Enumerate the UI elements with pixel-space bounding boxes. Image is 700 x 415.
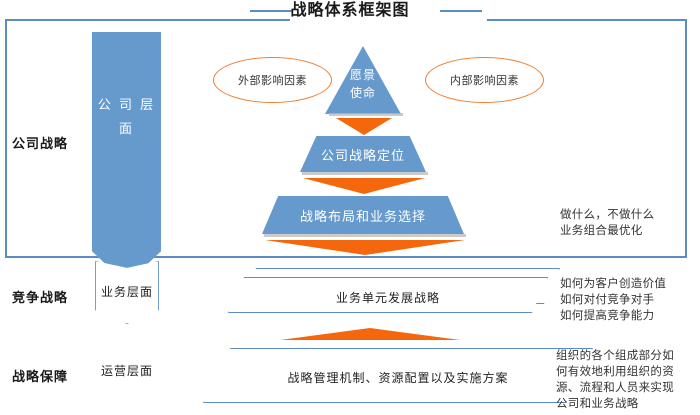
note-corporate: 做什么，不做什么 业务组合最优化 bbox=[560, 206, 695, 238]
level-corporate-label: 公 司 层 面 bbox=[92, 94, 161, 142]
vision-mission-label: 愿景 使命 bbox=[325, 66, 401, 102]
page-title: 战略体系框架图 bbox=[0, 0, 700, 20]
strategy-layout-label: 战略布局和业务选择 bbox=[300, 206, 426, 225]
frame-top-left-edge bbox=[5, 19, 290, 21]
external-factors-label: 外部影响因素 bbox=[238, 72, 307, 88]
strategy-layout-band: 战略布局和业务选择 bbox=[262, 196, 464, 234]
row-label-competitive: 竞争战略 bbox=[12, 287, 68, 306]
note-assurance: 组织的各个组成部分如 何有效地利用组织的资 源、流程和人员来实现 公司和业务战略 bbox=[556, 347, 698, 411]
frame-top-right-edge bbox=[487, 19, 687, 21]
note-competitive: 如何为客户创造价值 如何对付竞争对手 如何提高竞争能力 bbox=[560, 275, 695, 323]
internal-factors-label: 内部影响因素 bbox=[450, 72, 519, 88]
strategic-positioning-band: 公司战略定位 bbox=[300, 136, 426, 172]
strategic-positioning-label: 公司战略定位 bbox=[321, 145, 405, 164]
row-label-assurance: 战略保障 bbox=[12, 366, 68, 385]
operations-band-label: 战略管理机制、资源配置以及实施方案 bbox=[203, 369, 593, 386]
level-corporate-shape: 公 司 层 面 bbox=[92, 32, 161, 284]
row-label-corporate: 公司战略 bbox=[12, 133, 68, 152]
level-operations-label: 运营层面 bbox=[95, 362, 159, 379]
mission-line: 使命 bbox=[325, 84, 401, 102]
external-factors-ellipse: 外部影响因素 bbox=[213, 57, 332, 103]
business-band-label: 业务单元发展战略 bbox=[228, 289, 548, 306]
apex-shadow bbox=[329, 113, 403, 116]
position-band-shadow bbox=[302, 172, 428, 175]
arrow-operations-to-business bbox=[280, 328, 460, 340]
level-business-label: 业务层面 bbox=[95, 283, 159, 300]
vision-line: 愿景 bbox=[325, 66, 401, 84]
diagram-canvas: 战略体系框架图 公司战略 竞争战略 战略保障 公 司 层 面 业务层面 运营层面… bbox=[0, 0, 700, 415]
layout-band-shadow bbox=[264, 234, 466, 237]
internal-factors-ellipse: 内部影响因素 bbox=[425, 57, 544, 103]
